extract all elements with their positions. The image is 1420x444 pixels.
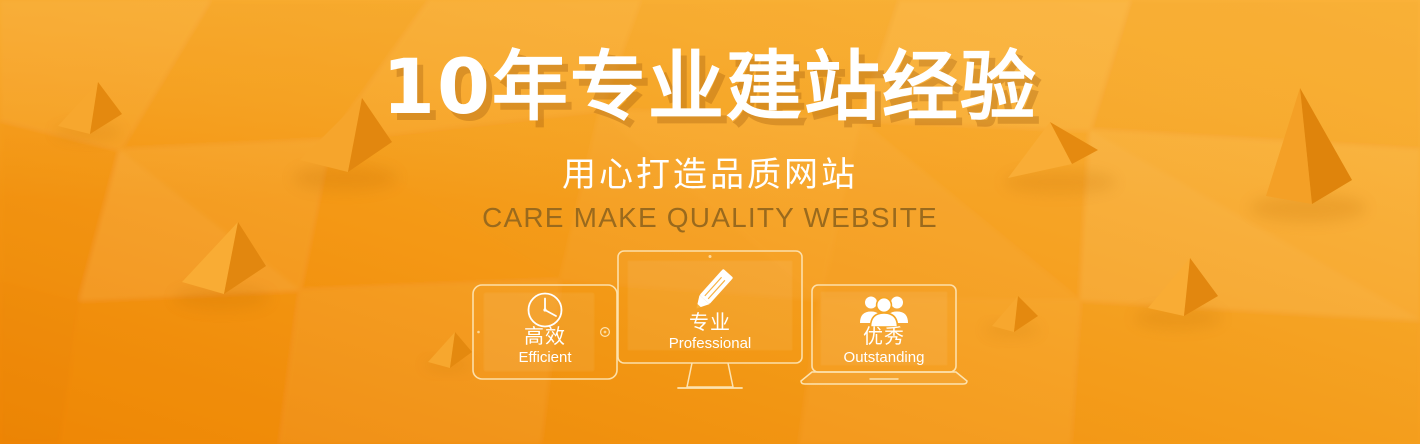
tablet-outline-icon: [472, 284, 618, 380]
banner-content: 10年专业建站经验 用心打造品质网站 CARE MAKE QUALITY WEB…: [0, 0, 1420, 444]
subtitle-chinese: 用心打造品质网站: [0, 154, 1420, 196]
page-title: 10年专业建站经验: [0, 44, 1420, 130]
feature-card-professional[interactable]: [617, 250, 803, 400]
feature-devices-row: 高效 Efficient: [0, 250, 1420, 410]
monitor-outline-icon: [617, 250, 803, 400]
laptop-outline-icon: [800, 284, 968, 388]
promo-banner: 10年专业建站经验 用心打造品质网站 CARE MAKE QUALITY WEB…: [0, 0, 1420, 444]
subtitle-english: CARE MAKE QUALITY WEBSITE: [0, 201, 1420, 235]
feature-card-efficient[interactable]: [472, 284, 618, 380]
feature-card-outstanding[interactable]: [800, 284, 968, 388]
